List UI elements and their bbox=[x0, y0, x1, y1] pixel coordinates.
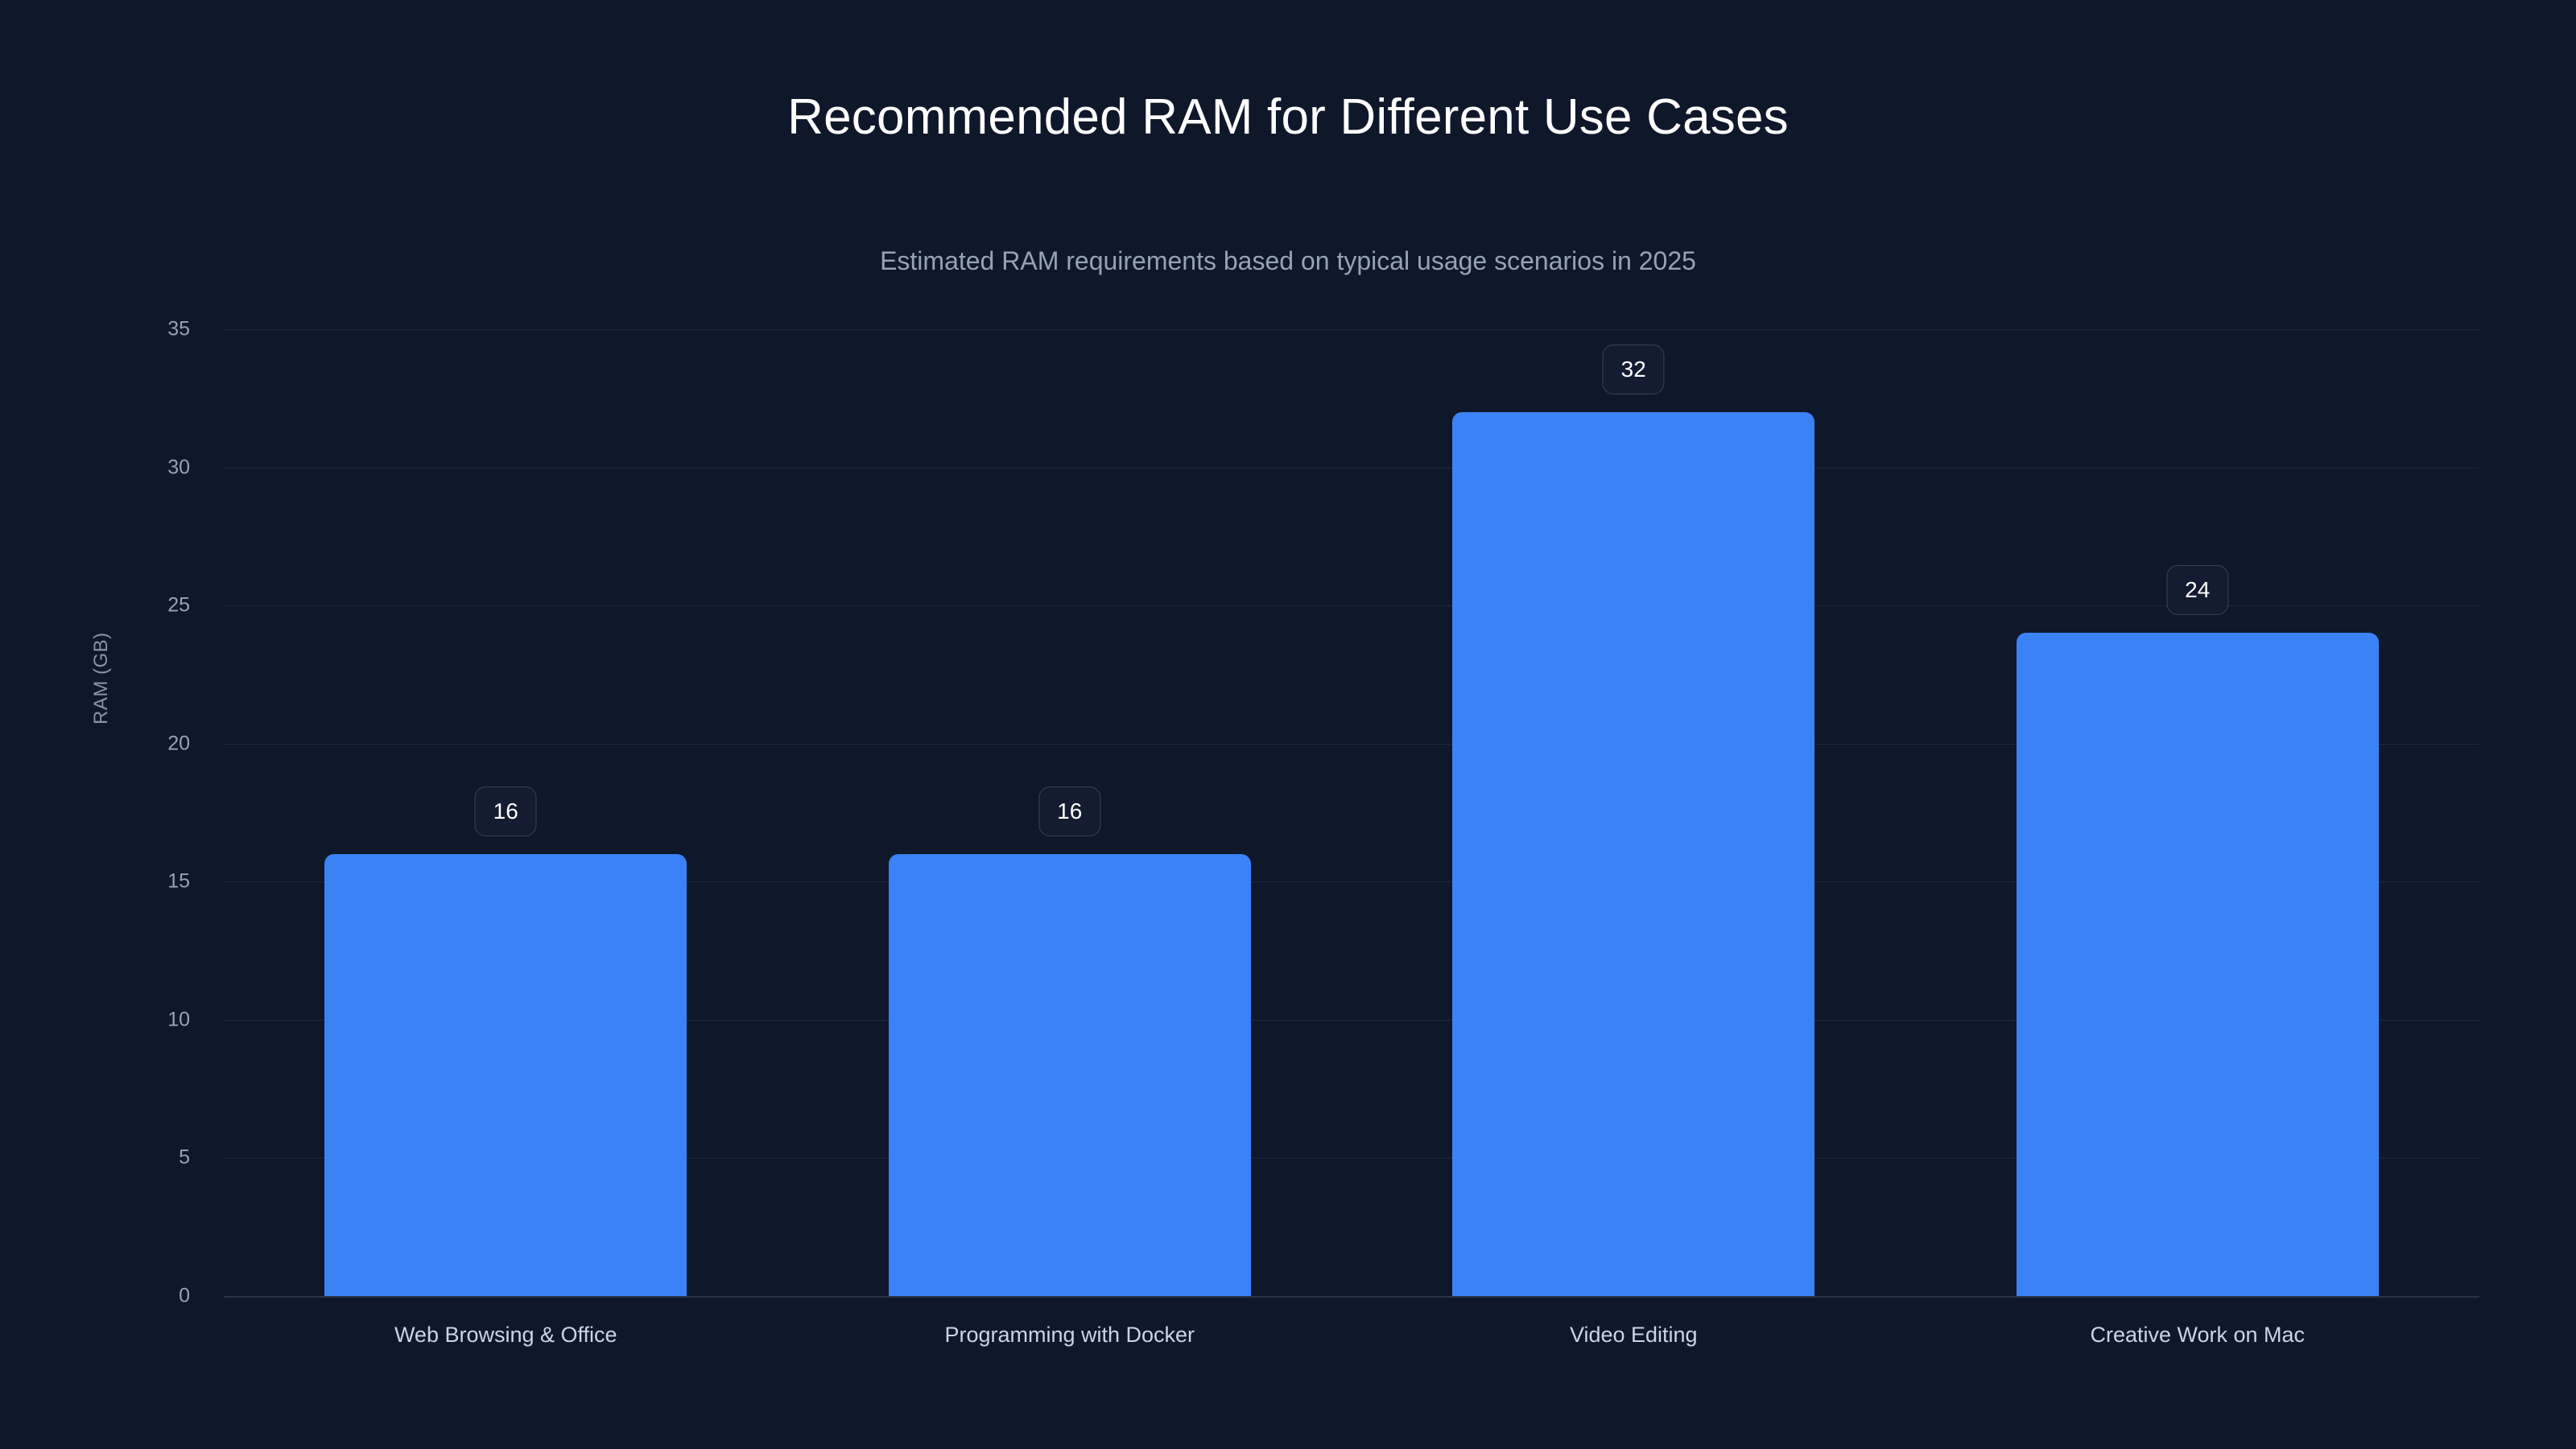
bar-value-badge: 16 bbox=[475, 786, 537, 836]
y-axis-tick-label: 35 bbox=[0, 318, 190, 341]
x-axis-category-label: Video Editing bbox=[1570, 1323, 1698, 1348]
y-axis-tick-label: 25 bbox=[0, 594, 190, 617]
gridline bbox=[224, 468, 2479, 469]
x-axis-category-label: Creative Work on Mac bbox=[2090, 1323, 2305, 1348]
y-axis-tick-label: 15 bbox=[0, 870, 190, 894]
bar[interactable] bbox=[1452, 412, 1814, 1296]
chart-canvas: Recommended RAM for Different Use Cases … bbox=[0, 0, 2576, 1449]
y-axis-title: RAM (GB) bbox=[90, 632, 113, 724]
gridline bbox=[224, 1296, 2479, 1298]
y-axis-tick-label: 30 bbox=[0, 456, 190, 479]
bar-value-badge: 32 bbox=[1603, 345, 1665, 394]
y-axis-tick-label: 0 bbox=[0, 1285, 190, 1308]
y-axis-tick-label: 10 bbox=[0, 1008, 190, 1031]
gridline bbox=[224, 605, 2479, 606]
chart-title: Recommended RAM for Different Use Cases bbox=[0, 90, 2576, 145]
x-axis-category-label: Web Browsing & Office bbox=[394, 1323, 617, 1348]
y-axis-tick-label: 20 bbox=[0, 732, 190, 755]
bar-value-badge: 16 bbox=[1038, 786, 1100, 836]
bar[interactable] bbox=[889, 854, 1251, 1296]
bar-value-badge: 24 bbox=[2166, 565, 2228, 615]
gridline bbox=[224, 329, 2479, 330]
x-axis-category-label: Programming with Docker bbox=[944, 1323, 1195, 1348]
plot-area bbox=[224, 329, 2479, 1296]
chart-subtitle: Estimated RAM requirements based on typi… bbox=[0, 246, 2576, 276]
bar[interactable] bbox=[2017, 633, 2379, 1296]
bar[interactable] bbox=[324, 854, 687, 1296]
y-axis-tick-label: 5 bbox=[0, 1146, 190, 1170]
